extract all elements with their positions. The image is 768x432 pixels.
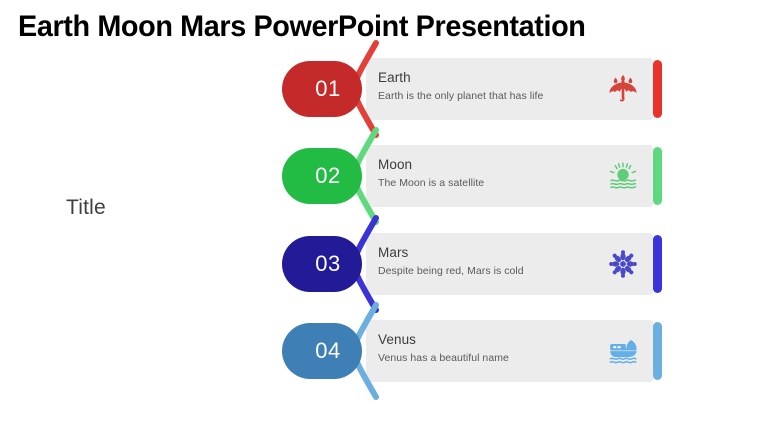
boat-water-icon — [606, 334, 640, 368]
row-subtitle: Despite being red, Mars is cold — [378, 264, 593, 278]
list-item[interactable]: 03 Mars Despite being red, Mars is cold — [282, 233, 662, 295]
list-item[interactable]: 02 Moon The Moon is a satellite — [282, 145, 662, 207]
slide-canvas: Earth Moon Mars PowerPoint Presentation … — [0, 0, 768, 432]
row-accent-bar — [653, 235, 662, 293]
boat-window — [618, 346, 621, 348]
boat-window — [613, 346, 616, 348]
row-subtitle: Venus has a beautiful name — [378, 351, 593, 365]
boat-glyph — [610, 341, 636, 363]
sunrise-glyph — [611, 163, 636, 188]
water-waves — [610, 358, 635, 362]
umbrella-rain-icon — [606, 72, 640, 106]
row-number-badge[interactable]: 03 — [282, 236, 362, 292]
row-subtitle: The Moon is a satellite — [378, 176, 593, 190]
row-text-block: Venus Venus has a beautiful name — [378, 331, 593, 365]
sunrise-water-icon — [606, 159, 640, 193]
row-number-label: 03 — [282, 251, 362, 277]
row-text-block: Mars Despite being red, Mars is cold — [378, 244, 593, 278]
umbrella-glyph — [610, 76, 636, 101]
row-number-label: 02 — [282, 163, 362, 189]
row-text-block: Moon The Moon is a satellite — [378, 156, 593, 190]
row-number-badge[interactable]: 02 — [282, 148, 362, 204]
row-number-badge[interactable]: 04 — [282, 323, 362, 379]
snowflake-icon — [606, 247, 640, 281]
row-accent-bar — [653, 147, 662, 205]
row-number-label: 01 — [282, 76, 362, 102]
row-number-label: 04 — [282, 338, 362, 364]
row-title: Venus — [378, 331, 593, 348]
list-item[interactable]: 04 Venus Venus has a beautiful name — [282, 320, 662, 382]
row-title: Earth — [378, 69, 593, 86]
list-container: 01 Earth Earth is the only planet that h… — [282, 52, 662, 392]
row-title: Moon — [378, 156, 593, 173]
row-text-block: Earth Earth is the only planet that has … — [378, 69, 593, 103]
row-title: Mars — [378, 244, 593, 261]
row-subtitle: Earth is the only planet that has life — [378, 89, 593, 103]
row-number-badge[interactable]: 01 — [282, 61, 362, 117]
row-accent-bar — [653, 60, 662, 118]
water-waves — [611, 180, 635, 188]
snowflake-glyph — [610, 251, 637, 278]
page-title: Earth Moon Mars PowerPoint Presentation — [18, 9, 719, 45]
row-accent-bar — [653, 322, 662, 380]
left-section-title: Title — [66, 196, 106, 220]
list-item[interactable]: 01 Earth Earth is the only planet that h… — [282, 58, 662, 120]
